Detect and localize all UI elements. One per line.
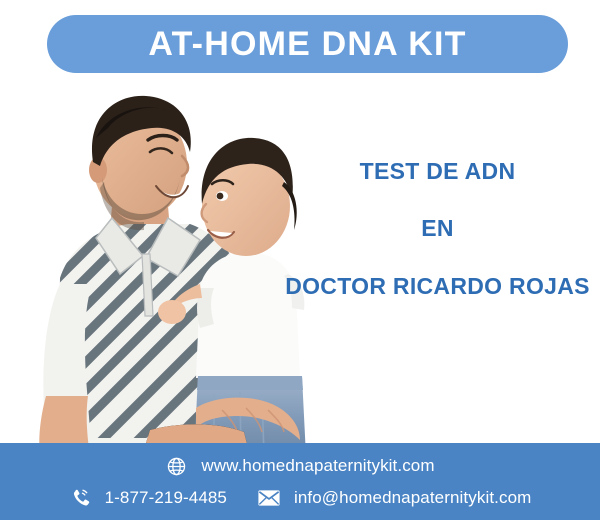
header-banner: AT-HOME DNA KIT [47,15,568,73]
globe-icon [165,455,187,477]
page-title: AT-HOME DNA KIT [148,27,466,61]
phone-icon [69,487,91,509]
email-contact-item[interactable]: info@homednapaternitykit.com [258,487,531,509]
phone-label: 1-877-219-4485 [105,488,227,508]
headline-line-1: TEST DE ADN [280,158,595,184]
footer-row-phone-email: 1-877-219-4485 info@homednapaternitykit.… [0,487,600,509]
email-label: info@homednapaternitykit.com [294,488,531,508]
footer-row-website: www.homednapaternitykit.com [0,455,600,477]
promo-card: AT-HOME DNA KIT [0,0,600,520]
phone-contact-item[interactable]: 1-877-219-4485 [69,487,227,509]
envelope-icon [258,487,280,509]
headline-line-2: EN [280,215,595,241]
footer-contact-bar: www.homednapaternitykit.com 1-877-219-44… [0,443,600,520]
website-contact-item[interactable]: www.homednapaternitykit.com [165,455,434,477]
headline-block: TEST DE ADN EN DOCTOR RICARDO ROJAS [280,158,595,299]
website-label: www.homednapaternitykit.com [201,456,434,476]
headline-line-3: DOCTOR RICARDO ROJAS [280,273,595,299]
